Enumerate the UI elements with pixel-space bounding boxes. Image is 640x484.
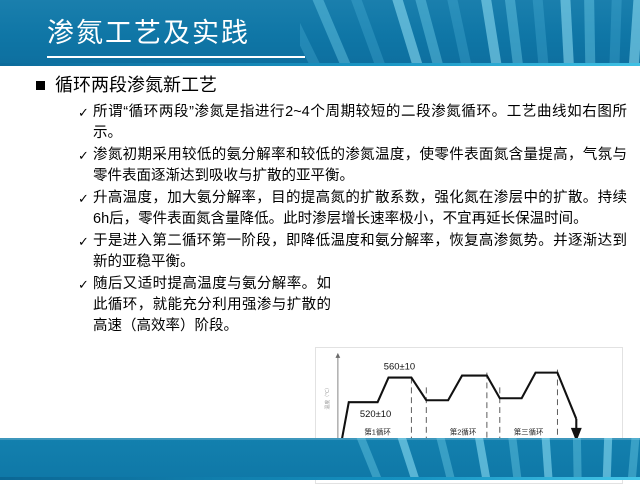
list-item: ✓ 于是进入第二循环第一阶段，即降低温度和氨分解率，恢复高渗氮势。并逐渐达到新的…: [78, 231, 634, 273]
check-bullet-icon: ✓: [78, 102, 93, 123]
list-item-text: 所谓“循环两段”渗氮是指进行2~4个周期较短的二段渗氮循环。工艺曲线如右图所示。: [93, 102, 627, 144]
cycle-2-label: 第2循环: [450, 427, 476, 437]
cycle-3-label: 第三循环: [514, 427, 544, 437]
list-item-text: 升高温度，加大氨分解率，目的提高氮的扩散系数，强化氮在渗层中的扩散。持续6h后，…: [93, 188, 627, 230]
slide-footer-banner: [0, 438, 640, 480]
low-temp-label: 520±10: [360, 408, 391, 419]
chart-y-axis-label: 温度（℃）: [324, 385, 331, 410]
page-title: 渗氮工艺及实践: [47, 14, 250, 52]
slide-header-banner: 渗氮工艺及实践: [0, 0, 640, 66]
chart-y-axis-arrow-icon: [335, 353, 340, 358]
heading-text: 循环两段渗氮新工艺: [55, 72, 217, 98]
list-item: ✓ 升高温度，加大氨分解率，目的提高氮的扩散系数，强化氮在渗层中的扩散。持续6h…: [78, 188, 634, 230]
list-item: ✓ 随后又适时提高温度与氨分解率。如此循环，就能充分利用强渗与扩散的高速（高效率…: [78, 274, 634, 337]
check-bullet-icon: ✓: [78, 231, 93, 252]
slide-content: 循环两段渗氮新工艺 ✓ 所谓“循环两段”渗氮是指进行2~4个周期较短的二段渗氮循…: [0, 66, 640, 440]
list-item: ✓ 所谓“循环两段”渗氮是指进行2~4个周期较短的二段渗氮循环。工艺曲线如右图所…: [78, 102, 634, 144]
square-bullet-icon: [36, 81, 45, 90]
list-item-text: 于是进入第二循环第一阶段，即降低温度和氨分解率，恢复高渗氮势。并逐渐达到新的亚稳…: [93, 231, 627, 273]
cycle-1-label: 第1循环: [364, 427, 390, 437]
bullet-list: ✓ 所谓“循环两段”渗氮是指进行2~4个周期较短的二段渗氮循环。工艺曲线如右图所…: [78, 102, 634, 338]
list-item: ✓ 渗氮初期采用较低的氨分解率和较低的渗氮温度，使零件表面氮含量提高，气氛与零件…: [78, 145, 634, 187]
check-bullet-icon: ✓: [78, 145, 93, 166]
header-ray-decoration: [300, 0, 640, 66]
high-temp-label: 560±10: [384, 361, 415, 372]
footer-ray-decoration: [330, 438, 640, 480]
list-item-text: 随后又适时提高温度与氨分解率。如此循环，就能充分利用强渗与扩散的高速（高效率）阶…: [93, 274, 331, 337]
list-item-text: 渗氮初期采用较低的氨分解率和较低的渗氮温度，使零件表面氮含量提高，气氛与零件表面…: [93, 145, 627, 187]
check-bullet-icon: ✓: [78, 274, 93, 295]
title-underline-rule: [47, 56, 305, 58]
check-bullet-icon: ✓: [78, 188, 93, 209]
heading-bullet-row: 循环两段渗氮新工艺: [36, 72, 217, 98]
